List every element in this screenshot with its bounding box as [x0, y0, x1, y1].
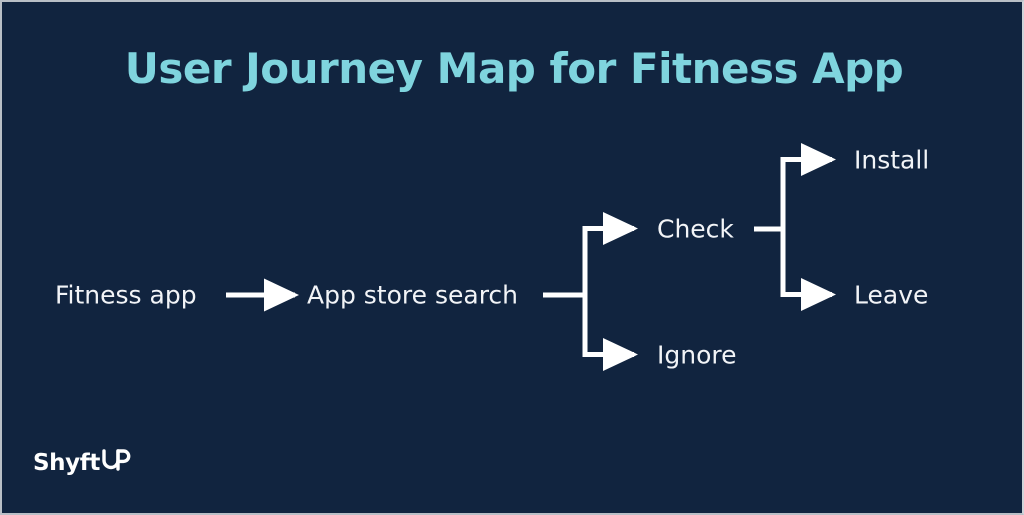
page-title: User Journey Map for Fitness App	[2, 44, 1024, 93]
diagram-board: User Journey Map for Fitness App	[0, 0, 1024, 515]
edge-search-split	[543, 226, 585, 355]
screenshot-canvas: User Journey Map for Fitness App	[0, 0, 1024, 515]
node-leave[interactable]: Leave	[854, 281, 928, 310]
logo-wordmark: Shyft	[33, 450, 100, 476]
node-install[interactable]: Install	[854, 146, 929, 175]
node-app-store-search[interactable]: App store search	[307, 281, 518, 310]
logo-up-mark	[101, 448, 131, 477]
shyftup-logo: Shyft	[33, 448, 131, 477]
edge-check-split	[754, 157, 783, 295]
node-ignore[interactable]: Ignore	[657, 341, 737, 370]
node-fitness-app[interactable]: Fitness app	[55, 281, 197, 310]
node-check[interactable]: Check	[657, 215, 734, 244]
